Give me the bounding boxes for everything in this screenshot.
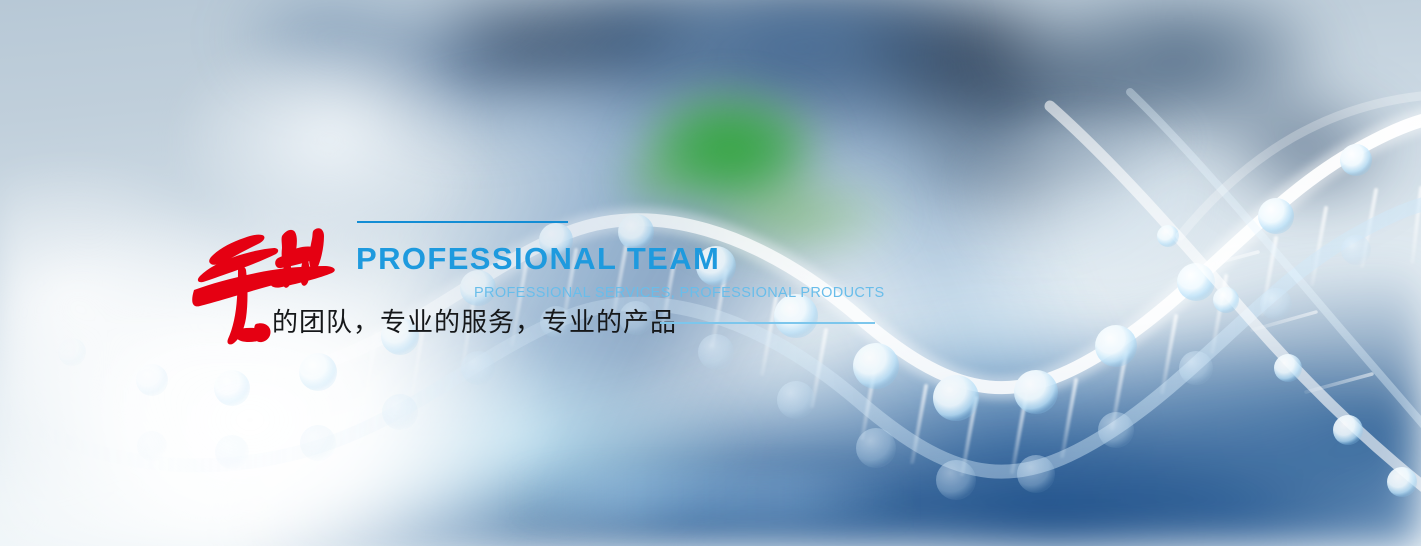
banner-title-en: PROFESSIONAL TEAM [356, 243, 720, 274]
banner-slogan-cn: 的团队，专业的服务，专业的产品 [272, 307, 677, 340]
bottom-divider-rule [660, 322, 875, 324]
headline-block: 专业 [0, 0, 1421, 546]
banner-subtitle-en: PROFESSIONAL SERVICES, PROFESSIONAL PROD… [474, 286, 884, 301]
hero-banner: 专业 [0, 0, 1421, 546]
top-divider-rule [357, 221, 568, 223]
